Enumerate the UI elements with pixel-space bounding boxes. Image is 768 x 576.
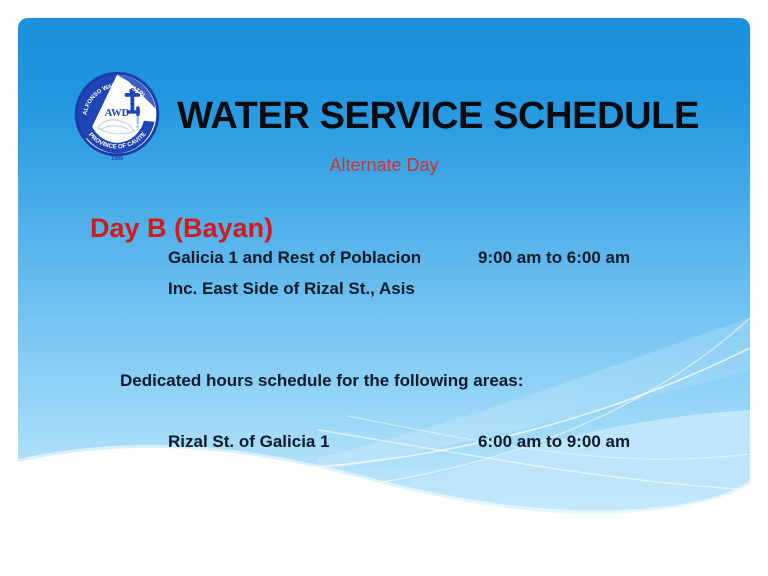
subtitle: Alternate Day [18, 155, 750, 176]
schedule-area-label: Galicia 1 and Rest of Poblacion [168, 248, 478, 268]
schedule-row: Inc. East Side of Rizal St., Asis [168, 279, 728, 299]
header-row: AWD ALFONSO WATER DISTRICT PROVINCE OF C… [18, 68, 750, 164]
dedicated-time-label: 6:00 am to 9:00 am [478, 432, 630, 452]
wave-main-white [18, 448, 750, 558]
schedule-area-label: Inc. East Side of Rizal St., Asis [168, 279, 478, 299]
awd-water-district-seal-icon: AWD ALFONSO WATER DISTRICT PROVINCE OF C… [69, 68, 165, 164]
wave-highlight-arc-2 [218, 318, 750, 500]
dedicated-hours-note: Dedicated hours schedule for the followi… [120, 371, 523, 391]
schedule-row: Galicia 1 and Rest of Poblacion9:00 am t… [168, 248, 728, 268]
dedicated-schedule-row: Rizal St. of Galicia 16:00 am to 9:00 am [168, 432, 728, 452]
wave-main-white-haze [18, 445, 750, 522]
slide-canvas: AWD ALFONSO WATER DISTRICT PROVINCE OF C… [18, 18, 750, 558]
schedule-time-label: 9:00 am to 6:00 am [478, 248, 630, 268]
day-label: Day B (Bayan) [90, 213, 273, 244]
seal-monogram-text: AWD [105, 108, 130, 119]
slide-frame: AWD ALFONSO WATER DISTRICT PROVINCE OF C… [0, 0, 768, 576]
dedicated-area-label: Rizal St. of Galicia 1 [168, 432, 478, 452]
wave-highlight-arc-1 [78, 348, 750, 472]
page-title: WATER SERVICE SCHEDULE [177, 97, 699, 135]
